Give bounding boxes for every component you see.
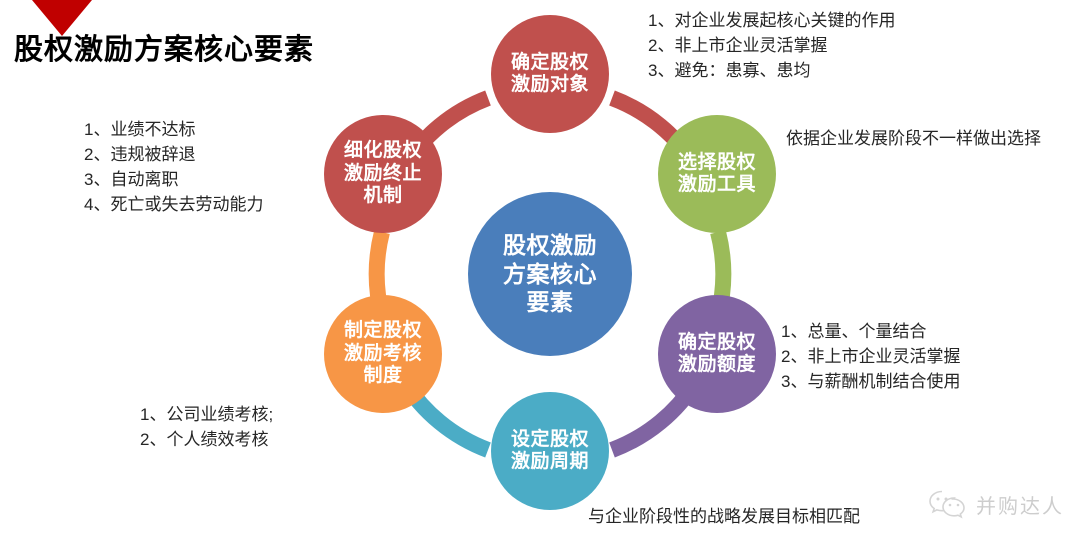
wechat-icon — [928, 488, 968, 520]
node-center-line-1: 股权激励 — [503, 231, 597, 260]
annotation-assessment-system: 1、公司业绩考核; 2、个人绩效考核 — [140, 402, 273, 452]
node-determine-target-line-2: 激励对象 — [511, 74, 589, 96]
node-set-cycle-line-1: 设定股权 — [511, 429, 589, 451]
annotation-line: 1、公司业绩考核; — [140, 402, 273, 427]
node-center-line-3: 要素 — [527, 288, 574, 317]
node-determine-quota[interactable]: 确定股权 激励额度 — [658, 295, 776, 413]
annotation-line: 依据企业发展阶段不一样做出选择 — [786, 126, 1041, 151]
annotation-line: 2、非上市企业灵活掌握 — [781, 344, 960, 369]
node-select-tool-line-1: 选择股权 — [678, 152, 756, 174]
annotation-line: 2、非上市企业灵活掌握 — [648, 33, 895, 58]
annotation-set-cycle: 与企业阶段性的战略发展目标相匹配 — [588, 504, 860, 529]
annotation-line: 3、自动离职 — [84, 167, 263, 192]
node-determine-target[interactable]: 确定股权 激励对象 — [491, 15, 609, 133]
node-set-cycle[interactable]: 设定股权 激励周期 — [491, 392, 609, 510]
node-assessment-system-line-1: 制定股权 — [344, 320, 422, 342]
annotation-line: 2、违规被辞退 — [84, 142, 263, 167]
watermark-text: 并购达人 — [976, 490, 1064, 519]
page-title: 股权激励方案核心要素 — [14, 26, 314, 68]
annotation-termination-mechanism: 1、业绩不达标 2、违规被辞退 3、自动离职 4、死亡或失去劳动能力 — [84, 117, 263, 218]
node-assessment-system-line-2: 激励考核 — [344, 343, 422, 365]
node-termination-mechanism-line-1: 细化股权 — [344, 140, 422, 162]
node-assessment-system-line-3: 制度 — [363, 365, 402, 387]
annotation-determine-target: 1、对企业发展起核心关键的作用 2、非上市企业灵活掌握 3、避免：患寡、患均 — [648, 8, 895, 83]
node-determine-quota-line-2: 激励额度 — [678, 354, 756, 376]
node-determine-quota-line-1: 确定股权 — [678, 332, 756, 354]
annotation-select-tool: 依据企业发展阶段不一样做出选择 — [786, 126, 1041, 151]
annotation-line: 与企业阶段性的战略发展目标相匹配 — [588, 504, 860, 529]
node-determine-target-line-1: 确定股权 — [511, 52, 589, 74]
node-termination-mechanism-line-3: 机制 — [363, 185, 402, 207]
node-select-tool-line-2: 激励工具 — [678, 174, 756, 196]
annotation-line: 4、死亡或失去劳动能力 — [84, 192, 263, 217]
annotation-line: 3、避免：患寡、患均 — [648, 58, 895, 83]
node-center-core-elements[interactable]: 股权激励 方案核心 要素 — [468, 192, 632, 356]
annotation-determine-quota: 1、总量、个量结合 2、非上市企业灵活掌握 3、与薪酬机制结合使用 — [781, 319, 960, 394]
watermark: 并购达人 — [928, 488, 1064, 520]
annotation-line: 1、对企业发展起核心关键的作用 — [648, 8, 895, 33]
node-termination-mechanism[interactable]: 细化股权 激励终止 机制 — [324, 115, 442, 233]
node-assessment-system[interactable]: 制定股权 激励考核 制度 — [324, 295, 442, 413]
node-center-line-2: 方案核心 — [503, 260, 597, 289]
node-select-tool[interactable]: 选择股权 激励工具 — [658, 115, 776, 233]
annotation-line: 1、业绩不达标 — [84, 117, 263, 142]
annotation-line: 3、与薪酬机制结合使用 — [781, 369, 960, 394]
node-termination-mechanism-line-2: 激励终止 — [344, 163, 422, 185]
annotation-line: 1、总量、个量结合 — [781, 319, 960, 344]
node-set-cycle-line-2: 激励周期 — [511, 451, 589, 473]
annotation-line: 2、个人绩效考核 — [140, 427, 273, 452]
